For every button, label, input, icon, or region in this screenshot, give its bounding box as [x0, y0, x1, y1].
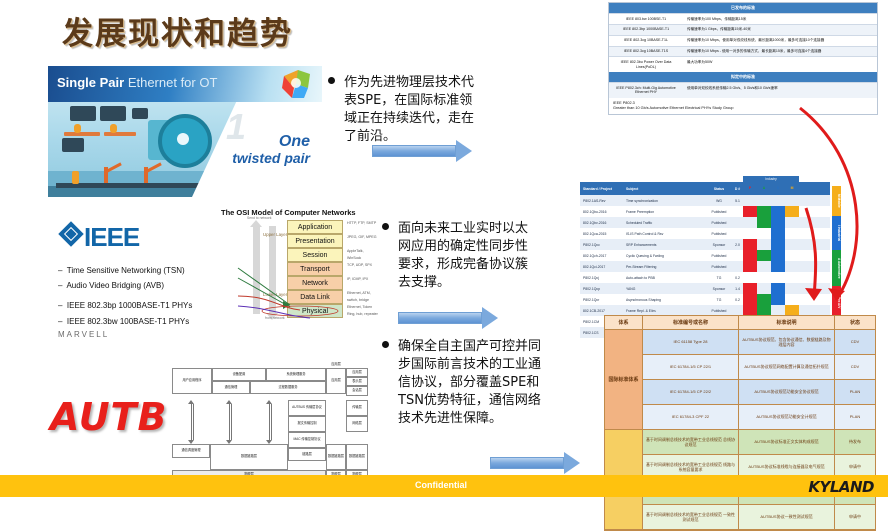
col-draft: D #	[732, 187, 743, 191]
tsn-standards-table: Industry Standard / Project Subject Stat…	[580, 176, 830, 338]
stack-cell: 设备配置	[212, 368, 266, 381]
footer-bar: Confidential KYLAND	[0, 475, 888, 497]
col-status: Status	[706, 187, 732, 191]
cell-industry-a	[757, 272, 771, 283]
cell-standard-desc: AUTBUS协议规范功能安全协议规范	[739, 380, 835, 404]
cell-status: PLAN	[835, 380, 875, 404]
cell-standard: P802.1Qcr	[580, 298, 626, 302]
blue-arrow-3	[490, 452, 580, 474]
cell-industry-a	[757, 239, 771, 250]
table-section-header: 已发布的标准	[609, 3, 877, 13]
cell-status: CDV	[835, 330, 875, 354]
std-desc: 使用单对双绞线系统传输2.5 Gb/s、5 Gb/s和10 Gb/s速率	[683, 83, 877, 98]
stack-cell: MAC 传输控制协议	[288, 432, 326, 448]
cell-industry-i	[771, 217, 785, 228]
cell-standard: P802.1Qcc	[580, 243, 626, 247]
stack-col-label: 应用层	[326, 368, 346, 394]
cell-draft: 1.4	[732, 287, 743, 291]
cell-subject: SRP Enhancements	[626, 243, 706, 247]
cell-industry-i	[771, 250, 785, 261]
table-row: IEC 61784-3 CPF 22AUTBUS协议规范功能安全计规范PLAN	[643, 405, 875, 430]
confidential-label: Confidential	[415, 480, 467, 490]
cell-industry-i	[771, 261, 785, 272]
cell-subject: Auto-attach to PBB	[626, 276, 706, 280]
table-row: 802.1Qch-2017Cyclic Queuing & FwdingPubl…	[580, 250, 830, 261]
bullet-text: 确保全自主国产可控并同步国际前言技术的工业通信协议，部分覆盖SPE和TSN优势特…	[398, 339, 541, 426]
table-row: IEEE 803.bw 100BSE-T1传输速率为100 Mbps，传输距离1…	[609, 13, 877, 24]
cell-industry-i	[771, 239, 785, 250]
std-desc: 传输速率为10 Mbps，使用单对双绞线系统，最长距离1000米，最多可连接10…	[683, 36, 877, 46]
autbus-table-body: 国际标准体系IEC 61158 Type 28AUTBUS协议规范、包含协议通信…	[605, 330, 875, 530]
blue-arrow-2	[398, 307, 498, 329]
std-desc: 传输速率为10 Mbps - 使用一对多的传输方式，最长距离15米，最多可连接4…	[683, 47, 877, 57]
autbus-stack-image: 用户应用程序 设备配置 系统管理服务 通信管理 过程数据服务 AUTBUS 传输…	[170, 362, 368, 480]
col-i: I	[771, 183, 785, 194]
autbus-standards-table: 体系 标准编号或名称 标准说明 状态 国际标准体系IEC 61158 Type …	[604, 315, 876, 531]
cell-standard: P802.1Qcp	[580, 287, 626, 291]
col-system: 体系	[605, 316, 643, 329]
cell-industry-i	[771, 283, 785, 294]
std-name: IEEE 802.3bu Power Over Data Lines(PoDL)	[609, 57, 683, 72]
cell-status: 待发布	[835, 430, 875, 454]
spe-standards-table: 已发布的标准 IEEE 803.bw 100BSE-T1传输速率为100 Mbp…	[608, 2, 878, 115]
col-subject: Subject	[626, 187, 706, 191]
cell-standard-code: IEC 61784-3 CPF 22	[643, 405, 739, 429]
cell-draft: 0.2	[732, 276, 743, 280]
cell-status: Published	[706, 221, 732, 225]
col-a: A	[757, 183, 771, 194]
table-row: 基于时间调制总线技术的宽带工业总线规范 一致性测试规范AUTBUS协议一致性测试…	[643, 505, 875, 530]
cell-subject: Cyclic Queuing & Fwding	[626, 254, 706, 258]
stack-cell: AUTBUS 传输层协议	[288, 400, 326, 416]
table-row: 802.1Qca-2015IS-IS Path Control & RsvPub…	[580, 228, 830, 239]
cell-standard-code: IEC 61784-1/5 CP 22/2	[643, 380, 739, 404]
std-desc: 传输速率为100 Mbps，传输距离15米	[683, 14, 877, 24]
table-footnote: IEEE P802.3 Greater than 10 Gb/s Automot…	[609, 98, 877, 115]
col-p: P	[743, 183, 757, 194]
cell-industry-i	[771, 294, 785, 305]
table-row: IEEE 802.3bp 1000BASE-T1传输速率为1 Gbps，传输距离…	[609, 24, 877, 35]
cell-status: Published	[706, 254, 732, 258]
cell-industry-p	[743, 195, 757, 206]
cell-standard-desc: AUTBUS协议规范网络配置计算及通信拓扑规范	[739, 355, 835, 379]
cell-status: WG	[706, 199, 732, 203]
cell-industry-a	[757, 250, 771, 261]
std-desc: 传输速率为1 Gbps，传输距离15米-40米	[683, 25, 877, 35]
cell-status: 申请中	[835, 505, 875, 529]
cell-industry-p	[743, 250, 757, 261]
std-name: IEEE 802.3cg 10BASE-T1L	[609, 36, 683, 46]
cell-subject: Frame Repl. & Elim.	[626, 309, 706, 313]
table-header-row: Standard / Project Subject Status D # P …	[580, 182, 830, 195]
cell-industry-p	[743, 239, 757, 250]
cell-status: PLAN	[835, 405, 875, 429]
table-row: 802.1Qci-2017Per-Stream FilteringPublish…	[580, 261, 830, 272]
table-row: P802.1QccSRP EnhancementsSponsor2.0	[580, 239, 830, 250]
cell-draft: 5.1	[732, 199, 743, 203]
osi-ref-label: 会话层	[346, 386, 368, 396]
cell-industry-p	[743, 261, 757, 272]
bullet-dot-icon	[382, 341, 389, 348]
industry-tab-proav: P Pro A/V	[832, 286, 841, 316]
bullet-autbus: 确保全自主国产可控并同步国际前言技术的工业通信协议，部分覆盖SPE和TSN优势特…	[398, 338, 548, 428]
bullet-dot-icon	[328, 77, 335, 84]
table-row: P802.1AS-RevTime synchronizationWG5.1	[580, 195, 830, 206]
col-standard: Standard / Project	[580, 187, 626, 191]
industry-tab-automotive: A Automotive	[832, 250, 841, 286]
industry-tab-mobile: M Mobile	[832, 186, 841, 216]
cell-status: Published	[706, 309, 732, 313]
table-row: P802.1QcjAuto-attach to PBBTG0.2	[580, 272, 830, 283]
cell-subject: Asynchronous Shaping	[626, 298, 706, 302]
cell-standard: 802.1Qca-2015	[580, 232, 626, 236]
table-row: 802.1Qbv-2016Scheduled TrafficPublished	[580, 217, 830, 228]
cell-industry-a	[757, 294, 771, 305]
cell-standard-code: IEC 61158 Type 28	[643, 330, 739, 354]
cell-subject: Per-Stream Filtering	[626, 265, 706, 269]
cell-industry-p	[743, 228, 757, 239]
stack-cell: 用户应用程序	[172, 368, 212, 394]
table-row: IEC 61158 Type 28AUTBUS协议规范、包含协议通信、数据链路及…	[643, 330, 875, 355]
cell-industry-a	[757, 195, 771, 206]
cell-industry-i	[771, 206, 785, 217]
cell-industry-m	[785, 294, 799, 305]
cell-status: TG	[706, 276, 732, 280]
group-label: 国际标准体系	[605, 330, 643, 430]
osi-ref-label: 传输层	[346, 400, 368, 416]
stack-cell: 链路层	[288, 448, 326, 461]
col-status: 状态	[835, 316, 875, 329]
cell-status: Sponsor	[706, 287, 732, 291]
cell-status: Published	[706, 210, 732, 214]
std-name: IEEE 802.3cg 10BASE-T1S	[609, 47, 683, 57]
table-row: 基于时间调制总线技术的宽带工业总线规范 总线协议规范AUTBUS协议标准正文实体…	[643, 430, 875, 455]
cell-industry-m	[785, 272, 799, 283]
table-row: P802.1QcpYANGSponsor1.4	[580, 283, 830, 294]
col-m: M	[785, 183, 799, 194]
cell-status: CDV	[835, 355, 875, 379]
industry-tab-industrial: I Industrial	[832, 216, 841, 250]
bullet-tsn: 面向未来工业实时以太网应用的确定性同步性要求，形成完备协议簇去支撑。	[398, 220, 538, 292]
cell-draft: 2.0	[732, 243, 743, 247]
std-name: IEEE 802.3bp 1000BASE-T1	[609, 25, 683, 35]
table-row: IEEE 802.3bu Power Over Data Lines(PoDL)…	[609, 56, 877, 72]
blue-arrow-1	[372, 140, 472, 162]
table-row: IEC 61784-1/5 CP 22/1AUTBUS协议规范网络配置计算及通信…	[643, 355, 875, 380]
cell-subject: Time synchronization	[626, 199, 706, 203]
cell-industry-m	[785, 250, 799, 261]
stack-cell: 通信管理	[212, 381, 250, 394]
cell-standard-desc: AUTBUS协议标准正文实体构成规范	[739, 430, 835, 454]
table-row: IEC 61784-1/5 CP 22/2AUTBUS协议规范功能安全协议规范P…	[643, 380, 875, 405]
cell-standard-desc: AUTBUS协议规范、包含协议通信、数据链路及物理层内容	[739, 330, 835, 354]
cell-subject: YANG	[626, 287, 706, 291]
cell-industry-m	[785, 261, 799, 272]
cell-standard: P802.1AS-Rev	[580, 199, 626, 203]
cell-industry-m	[785, 228, 799, 239]
cell-industry-p	[743, 272, 757, 283]
table-row: P802.1QcrAsynchronous ShapingTG0.2	[580, 294, 830, 305]
cell-draft: 0.2	[732, 298, 743, 302]
table-row: IEEE 802.3cg 10BASE-T1S传输速率为10 Mbps - 使用…	[609, 46, 877, 57]
cell-status: TG	[706, 298, 732, 302]
cell-subject: Frame Preemption	[626, 210, 706, 214]
stack-cell: 系统管理服务	[266, 368, 326, 381]
bullet-dot-icon	[382, 223, 389, 230]
cell-industry-p	[743, 206, 757, 217]
cell-standard: 802.1Qci-2017	[580, 265, 626, 269]
bullet-text: 面向未来工业实时以太网应用的确定性同步性要求，形成完备协议簇去支撑。	[398, 221, 528, 290]
cell-industry-a	[757, 228, 771, 239]
slide-canvas: 发展现状和趋势 Single Pair Ethernet for OT	[0, 0, 888, 497]
col-code: 标准编号或名称	[643, 316, 739, 329]
std-desc: 最大功率为50W	[683, 57, 877, 72]
cell-standard: 802.1CB-2017	[580, 309, 626, 313]
cell-industry-p	[743, 283, 757, 294]
cell-industry-a	[757, 283, 771, 294]
cell-standard-code: IEC 61784-1/5 CP 22/1	[643, 355, 739, 379]
stack-cell: 报文传输控制	[288, 416, 326, 432]
table-section-header: 拟定中的标准	[609, 72, 877, 82]
osi-ref-label: 网络层	[346, 416, 368, 432]
cell-status: Sponsor	[706, 243, 732, 247]
table-row: 802.1Qbu-2016Frame PreemptionPublished	[580, 206, 830, 217]
cell-subject: Scheduled Traffic	[626, 221, 706, 225]
table-row: IEEE 802.3cg 10BASE-T1L传输速率为10 Mbps，使用单对…	[609, 35, 877, 46]
cell-standard-desc: AUTBUS协议一致性测试规范	[739, 505, 835, 529]
cell-industry-m	[785, 283, 799, 294]
industry-group-header: Industry	[743, 176, 799, 182]
cell-status: Published	[706, 232, 732, 236]
cell-industry-p	[743, 217, 757, 228]
table-group: 国际标准体系IEC 61158 Type 28AUTBUS协议规范、包含协议通信…	[605, 330, 875, 430]
table-header-row: 体系 标准编号或名称 标准说明 状态	[605, 316, 875, 330]
cell-industry-m	[785, 206, 799, 217]
cell-industry-m	[785, 195, 799, 206]
cell-subject: IS-IS Path Control & Rsv	[626, 232, 706, 236]
cell-standard-code: 基于时间调制总线技术的宽带工业总线规范 一致性测试规范	[643, 505, 739, 529]
table-row: IEEE P802.3ch: Multi-Gig Automotive Ethe…	[609, 82, 877, 98]
std-name: IEEE P802.3ch: Multi-Gig Automotive Ethe…	[609, 83, 683, 98]
cell-standard-desc: AUTBUS协议规范功能安全计规范	[739, 405, 835, 429]
kyland-logo: KYLAND	[808, 478, 874, 496]
cell-industry-a	[757, 217, 771, 228]
bullet-text: 作为先进物理层技术代表SPE，在国际标准领域正在持续迭代，走在了前沿。	[344, 75, 474, 144]
cell-industry-a	[757, 206, 771, 217]
osi-ref-label: 应用层	[346, 368, 368, 377]
cell-industry-i	[771, 228, 785, 239]
cell-industry-m	[785, 239, 799, 250]
cell-standard: 802.1Qbv-2016	[580, 221, 626, 225]
cell-standard: 802.1Qch-2017	[580, 254, 626, 258]
cell-standard: P802.1Qcj	[580, 276, 626, 280]
cell-industry-i	[771, 272, 785, 283]
osi-ref-label: 数据链路层	[346, 444, 368, 470]
cell-industry-p	[743, 294, 757, 305]
cell-industry-m	[785, 217, 799, 228]
osi-ref-label: 表示层	[346, 377, 368, 386]
col-desc: 标准说明	[739, 316, 835, 329]
cell-status: Published	[706, 265, 732, 269]
stack-cell: 通信调度管理	[172, 444, 210, 458]
cell-industry-a	[757, 261, 771, 272]
cell-standard-code: 基于时间调制总线技术的宽带工业总线规范 总线协议规范	[643, 430, 739, 454]
std-name: IEEE 803.bw 100BSE-T1	[609, 14, 683, 24]
bullet-spe: 作为先进物理层技术代表SPE，在国际标准领域正在持续迭代，走在了前沿。	[344, 74, 484, 146]
stack-cell: 数据链路层	[210, 444, 288, 470]
cell-standard: 802.1Qbu-2016	[580, 210, 626, 214]
cell-industry-i	[771, 195, 785, 206]
stack-col-label: 数据链路层	[326, 444, 346, 470]
stack-cell: 过程数据服务	[250, 381, 326, 394]
